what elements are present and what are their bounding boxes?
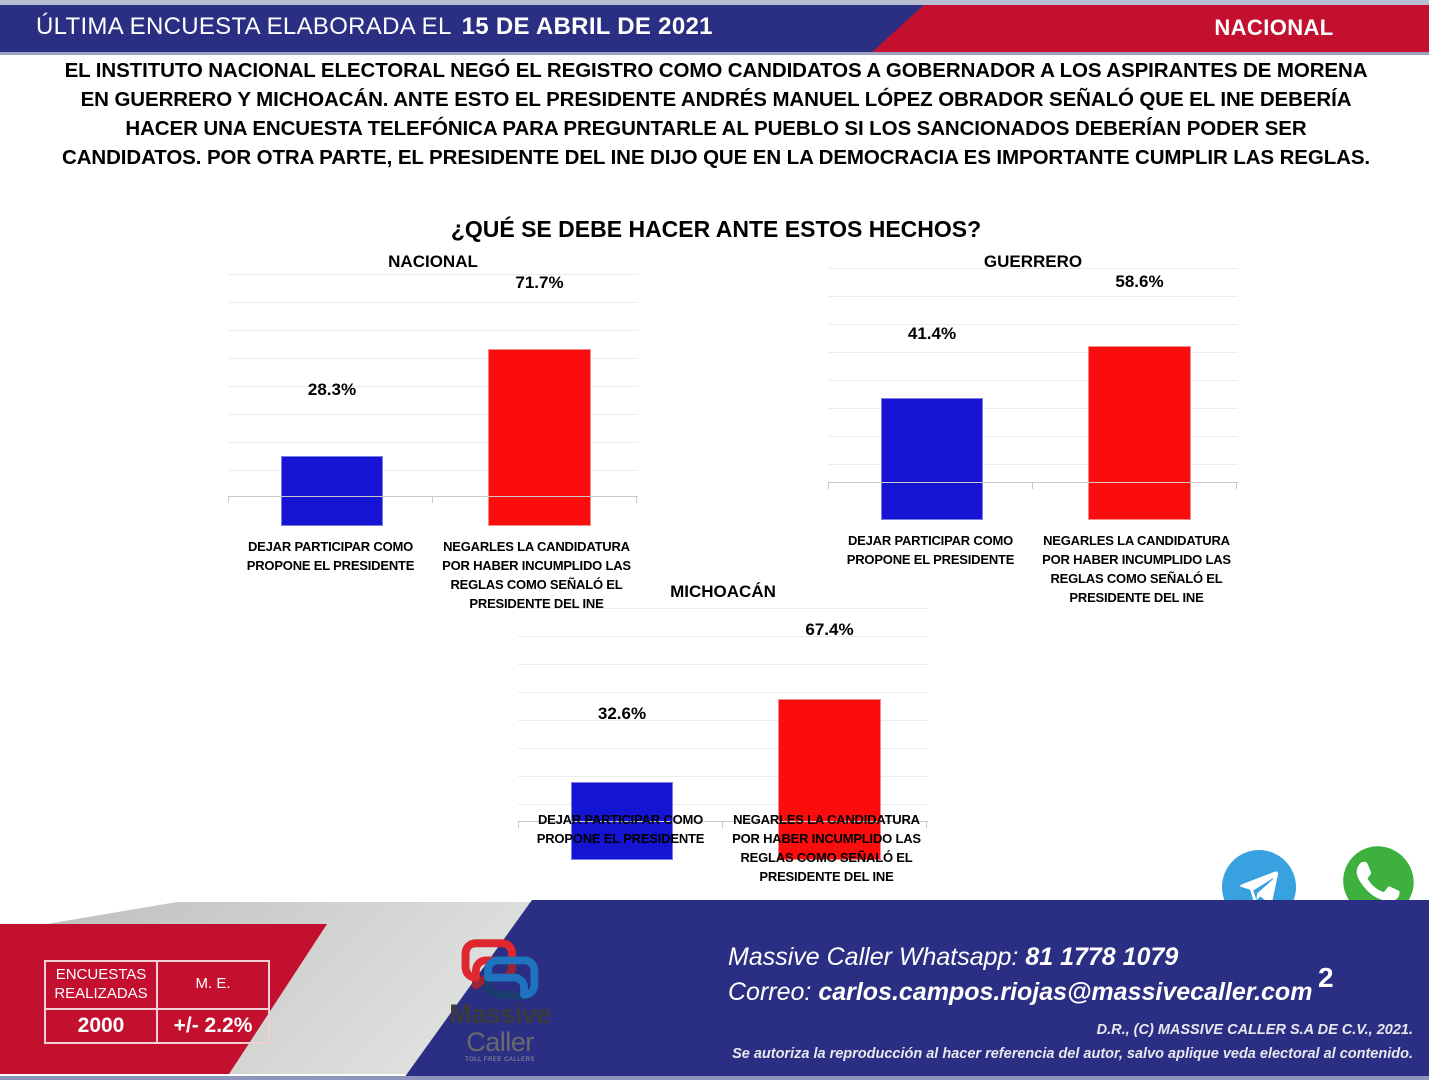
chart-title: NACIONAL — [228, 252, 638, 272]
email-label: Correo: — [728, 978, 811, 1006]
category-label: DEJAR PARTICIPAR COMO PROPONE EL PRESIDE… — [513, 811, 728, 849]
chart-nacional: NACIONAL 28.3% 71.7% DEJAR PARTICIPAR CO… — [228, 252, 638, 562]
header-bottom-rule — [0, 52, 1429, 55]
bar-value-label: 71.7% — [488, 273, 591, 293]
chart-plot-area — [828, 268, 1238, 520]
bar-negarles-candidatura — [1088, 346, 1191, 520]
category-axis — [228, 496, 638, 497]
contact-block: Massive Caller Whatsapp: 81 1778 1079 Co… — [728, 940, 1312, 1009]
header-top-rule — [0, 0, 1429, 5]
header-survey-date: ÚLTIMA ENCUESTA ELABORADA EL 15 DE ABRIL… — [36, 13, 713, 41]
whatsapp-contact-line: Massive Caller Whatsapp: 81 1778 1079 — [728, 940, 1312, 975]
axis-tick — [828, 482, 829, 489]
category-label: DEJAR PARTICIPAR COMO PROPONE EL PRESIDE… — [823, 532, 1038, 570]
table-row: 2000 +/- 2.2% — [45, 1009, 269, 1043]
chart-michoacan: MICHOACÁN 32.6% 67.4% DEJAR PARTICIPAR C… — [518, 582, 928, 892]
bar-value-label: 28.3% — [281, 380, 383, 400]
table-row: ENCUESTAS REALIZADAS M. E. — [45, 961, 269, 1009]
axis-tick — [228, 496, 229, 503]
bar-negarles-candidatura — [488, 349, 591, 526]
email-contact-line: Correo: carlos.campos.riojas@massivecall… — [728, 975, 1312, 1010]
massive-caller-logo: Massive Caller TOLL FREE CALLERS — [432, 938, 568, 1066]
gridline — [228, 330, 638, 331]
axis-tick — [432, 496, 433, 503]
bar-dejar-participar — [881, 398, 983, 520]
category-label: DEJAR PARTICIPAR COMO PROPONE EL PRESIDE… — [223, 538, 438, 576]
legal-reproduction-notice: Se autoriza la reproducción al hacer ref… — [732, 1046, 1413, 1062]
bar-value-label: 41.4% — [881, 324, 983, 344]
category-label: NEGARLES LA CANDIDATURA POR HABER INCUMP… — [1029, 532, 1244, 607]
gridline — [518, 692, 928, 693]
bar-value-label: 67.4% — [778, 620, 881, 640]
chart-title: MICHOACÁN — [518, 582, 928, 602]
email-address[interactable]: carlos.campos.riojas@massivecaller.com — [818, 978, 1312, 1006]
header-date-value: 15 DE ABRIL DE 2021 — [462, 13, 713, 41]
survey-question: ¿QUÉ SE DEBE HACER ANTE ESTOS HECHOS? — [56, 216, 1376, 243]
whatsapp-label: Massive Caller Whatsapp: — [728, 943, 1018, 971]
slide-root: ÚLTIMA ENCUESTA ELABORADA EL 15 DE ABRIL… — [0, 0, 1429, 1080]
bar-dejar-participar — [281, 456, 383, 526]
intro-paragraph: EL INSTITUTO NACIONAL ELECTORAL NEGÓ EL … — [56, 56, 1376, 172]
logo-text-caller: Caller — [466, 1028, 534, 1056]
chart-guerrero: GUERRERO 41.4% 58.6% DEJAR PARTICIPAR CO… — [828, 252, 1238, 562]
gridline — [828, 268, 1238, 269]
axis-tick — [1032, 482, 1033, 489]
header-scope-label: NACIONAL — [1119, 15, 1429, 41]
bar-value-label: 32.6% — [571, 704, 673, 724]
gridline — [518, 664, 928, 665]
bar-value-label: 58.6% — [1088, 272, 1191, 292]
header-margen-error: M. E. — [157, 961, 269, 1009]
header-lead-label: ÚLTIMA ENCUESTA ELABORADA EL — [36, 13, 452, 41]
category-label: NEGARLES LA CANDIDATURA POR HABER INCUMP… — [719, 811, 934, 886]
whatsapp-number[interactable]: 81 1778 1079 — [1025, 943, 1178, 971]
axis-tick — [636, 496, 637, 503]
speech-bubbles-icon — [457, 938, 543, 1000]
chart-plot-area — [228, 274, 638, 526]
page-number: 2 — [1318, 962, 1334, 994]
logo-tagline: TOLL FREE CALLERS — [465, 1057, 535, 1063]
gridline — [828, 296, 1238, 297]
gridline — [228, 302, 638, 303]
axis-tick — [1236, 482, 1237, 489]
gridline — [518, 608, 928, 609]
survey-summary-table: ENCUESTAS REALIZADAS M. E. 2000 +/- 2.2% — [44, 960, 270, 1044]
value-margen-error: +/- 2.2% — [157, 1009, 269, 1043]
category-axis — [828, 482, 1238, 483]
legal-copyright: D.R., (C) MASSIVE CALLER S.A DE C.V., 20… — [1097, 1022, 1413, 1038]
logo-text-massive: Massive — [449, 1001, 551, 1028]
header-encuestas-realizadas: ENCUESTAS REALIZADAS — [45, 961, 157, 1009]
header-band: ÚLTIMA ENCUESTA ELABORADA EL 15 DE ABRIL… — [0, 4, 1429, 52]
footer-bottom-rule — [0, 1076, 1429, 1080]
value-encuestas-realizadas: 2000 — [45, 1009, 157, 1043]
